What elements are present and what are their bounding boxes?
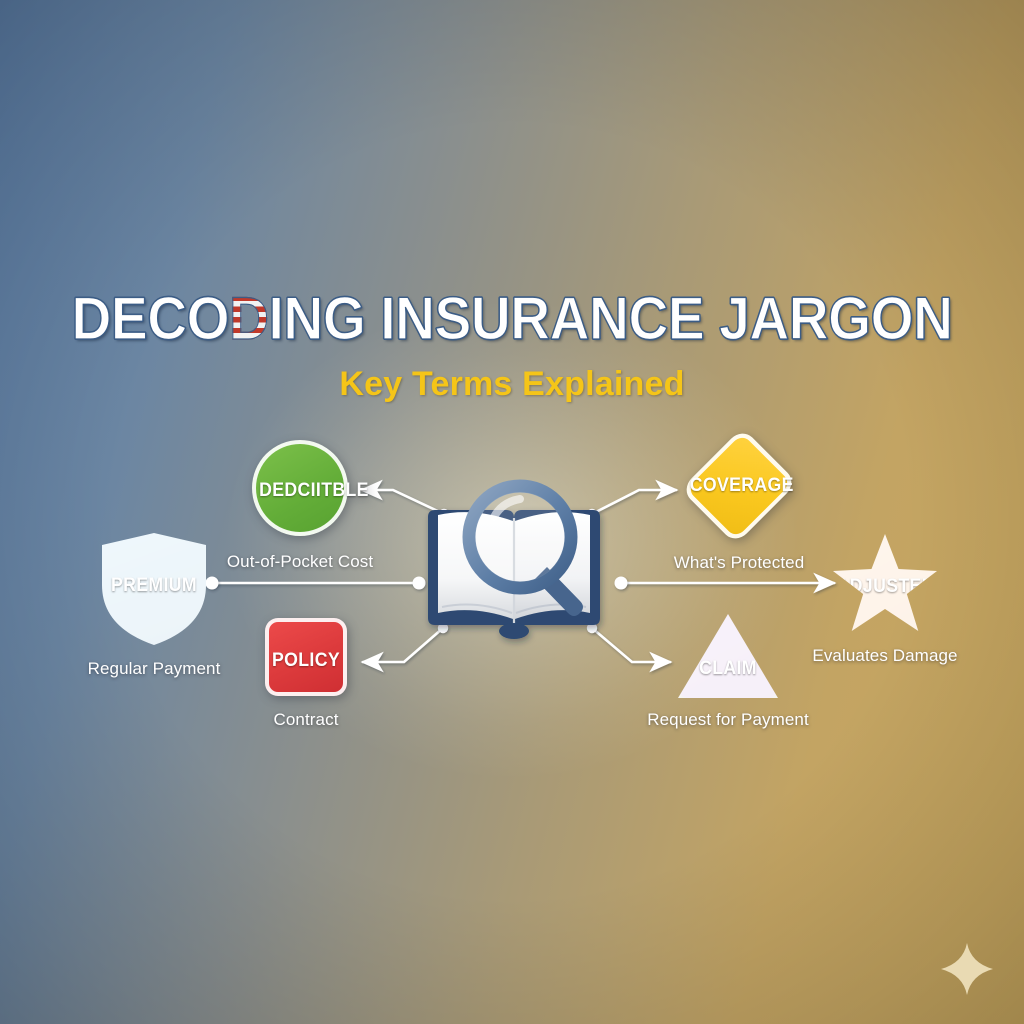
sparkle-icon bbox=[938, 940, 996, 998]
triangle-outline bbox=[673, 609, 783, 703]
node-deductible-term: DEDCIITBLE bbox=[259, 480, 341, 502]
diamond-shape bbox=[681, 428, 798, 545]
circle-icon: DEDCIITBLE bbox=[252, 440, 348, 536]
star-outline bbox=[828, 529, 942, 639]
node-claim-caption: Request for Payment bbox=[647, 710, 809, 730]
node-policy-term: POLICY bbox=[272, 650, 341, 672]
node-policy-caption: Contract bbox=[273, 710, 338, 730]
magnifier-lens bbox=[475, 492, 565, 582]
node-claim[interactable]: CLAIM Request for Payment bbox=[678, 614, 778, 698]
shield-outline bbox=[98, 529, 210, 649]
diamond-icon: COVERAGE bbox=[686, 425, 792, 547]
node-coverage-caption: What's Protected bbox=[674, 553, 805, 573]
node-deductible[interactable]: DEDCIITBLE Out-of-Pocket Cost bbox=[252, 440, 348, 536]
sparkle-shape bbox=[941, 943, 993, 995]
node-coverage[interactable]: COVERAGE What's Protected bbox=[686, 425, 792, 547]
title-part-pre: DECO bbox=[71, 285, 229, 352]
node-premium-caption: Regular Payment bbox=[88, 659, 221, 679]
triangle-icon: CLAIM bbox=[678, 614, 778, 698]
book-spine-base bbox=[499, 623, 529, 639]
title-flag-letter-d: D bbox=[229, 285, 268, 352]
node-layer: PREMIUM Regular Payment DEDCIITBLE Out-o… bbox=[0, 0, 1024, 1024]
node-adjuster-caption: Evaluates Damage bbox=[812, 646, 957, 666]
star-icon: ADJUSTER bbox=[833, 534, 937, 634]
center-emblem bbox=[414, 455, 614, 655]
node-adjuster[interactable]: ADJUSTER Evaluates Damage bbox=[833, 534, 937, 634]
node-policy[interactable]: POLICY Contract bbox=[265, 618, 347, 696]
shield-icon: PREMIUM bbox=[102, 533, 206, 645]
open-book-with-magnifier-icon bbox=[414, 455, 614, 655]
square-icon: POLICY bbox=[265, 618, 347, 696]
page-subtitle: Key Terms Explained bbox=[0, 365, 1024, 404]
title-part-post: ING INSURANCE JARGON bbox=[269, 285, 953, 352]
node-deductible-caption: Out-of-Pocket Cost bbox=[227, 552, 373, 572]
node-premium[interactable]: PREMIUM Regular Payment bbox=[102, 533, 206, 645]
page-title: DECODING INSURANCE JARGON bbox=[41, 288, 983, 350]
